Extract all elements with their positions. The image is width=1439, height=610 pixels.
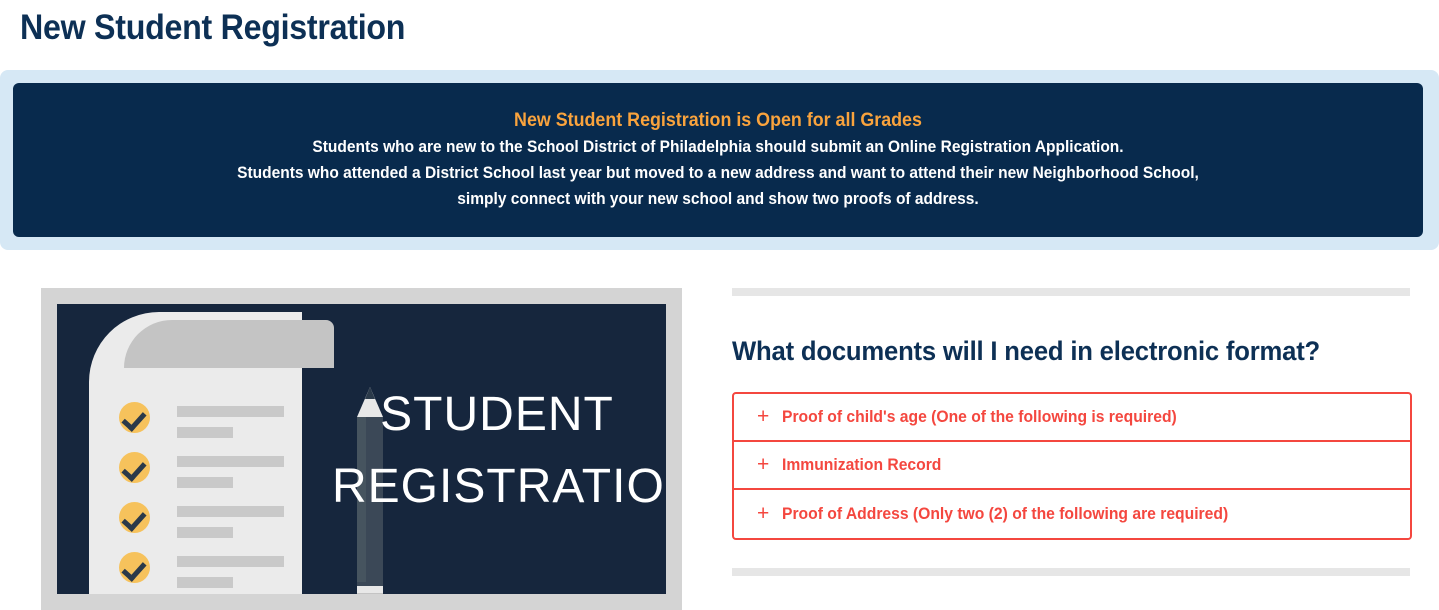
plus-icon: + <box>757 502 782 526</box>
announcement-line-2: Students who attended a District School … <box>55 160 1380 186</box>
accordion-item-label: Proof of child's age (One of the followi… <box>782 408 1177 427</box>
documents-section-heading: What documents will I need in electronic… <box>732 334 1378 368</box>
accordion-item-proof-of-address[interactable]: + Proof of Address (Only two (2) of the … <box>734 490 1410 538</box>
illustration-title-line-2: REGISTRATION <box>332 451 662 523</box>
checkmark-icon <box>119 502 150 533</box>
checkmark-icon <box>119 402 150 433</box>
announcement-line-1: Students who are new to the School Distr… <box>55 134 1380 160</box>
documents-accordion: + Proof of child's age (One of the follo… <box>732 392 1412 540</box>
illustration-title: STUDENT REGISTRATION <box>332 379 662 523</box>
illustration-canvas: STUDENT REGISTRATION <box>57 304 666 594</box>
plus-icon: + <box>757 405 782 429</box>
accordion-item-label: Proof of Address (Only two (2) of the fo… <box>782 505 1228 524</box>
paper-fold-icon <box>204 320 334 368</box>
accordion-item-immunization-record[interactable]: + Immunization Record <box>734 442 1410 490</box>
text-bar <box>177 456 284 467</box>
illustration-title-line-1: STUDENT <box>332 379 662 451</box>
text-bar <box>177 577 233 588</box>
plus-icon: + <box>757 453 782 477</box>
text-bar <box>177 527 233 538</box>
checkmark-icon <box>119 552 150 583</box>
checklist-paper-icon <box>89 312 302 594</box>
text-bar <box>177 427 233 438</box>
accordion-item-label: Immunization Record <box>782 456 941 475</box>
page-title: New Student Registration <box>20 6 405 50</box>
registration-illustration-card: STUDENT REGISTRATION <box>41 288 682 610</box>
text-bar <box>177 406 284 417</box>
section-divider-bottom <box>732 568 1410 576</box>
announcement-banner: New Student Registration is Open for all… <box>0 70 1439 250</box>
announcement-banner-inner: New Student Registration is Open for all… <box>13 83 1423 237</box>
text-bar <box>177 477 233 488</box>
checkmark-icon <box>119 452 150 483</box>
announcement-heading: New Student Registration is Open for all… <box>55 108 1380 134</box>
announcement-line-3: simply connect with your new school and … <box>55 186 1380 212</box>
pencil-ferrule <box>357 582 383 594</box>
section-divider-top <box>732 288 1410 296</box>
text-bar <box>177 506 284 517</box>
text-bar <box>177 556 284 567</box>
right-content-column: What documents will I need in electronic… <box>732 288 1412 610</box>
accordion-item-proof-of-age[interactable]: + Proof of child's age (One of the follo… <box>734 394 1410 442</box>
